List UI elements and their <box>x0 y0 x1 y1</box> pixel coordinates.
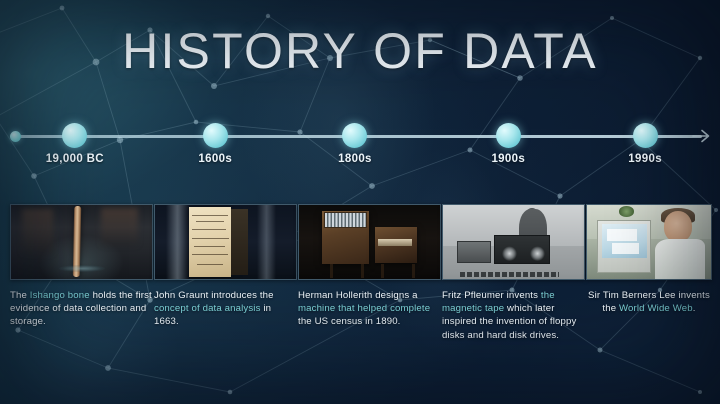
timeline-label-3: 1900s <box>448 153 568 165</box>
page-title: HISTORY OF DATA <box>0 26 720 76</box>
card-fritz-pfleumer[interactable]: Fritz Pfleumer invents the magnetic tape… <box>442 204 585 342</box>
caption-highlight: machine that helped complete <box>298 303 430 314</box>
timeline-node-1[interactable] <box>203 123 228 148</box>
timeline-node-3[interactable] <box>496 123 521 148</box>
caption-text: Herman Hollerith designs a <box>298 290 418 301</box>
card-ishango-bone[interactable]: The Ishango bone holds the first evidenc… <box>10 204 153 329</box>
timeline-start-dot <box>10 131 21 142</box>
card-tim-berners-lee[interactable]: Sir Tim Berners Lee invents the World Wi… <box>586 204 712 315</box>
card-caption: Sir Tim Berners Lee invents the World Wi… <box>586 289 712 315</box>
card-caption: The Ishango bone holds the first evidenc… <box>10 289 153 329</box>
card-thumbnail-tim-berners-lee <box>586 204 712 280</box>
caption-text: Fritz Pfleumer invents <box>442 290 541 301</box>
timeline: 19,000 BC1600s1800s1900s1990s <box>0 118 720 174</box>
caption-text: John Graunt introduces the <box>154 290 274 301</box>
card-caption: John Graunt introduces the concept of da… <box>154 289 297 329</box>
caption-text: The <box>10 290 30 301</box>
caption-highlight: Ishango bone <box>30 290 90 301</box>
arrow-right-icon <box>692 126 712 146</box>
slide-root: HISTORY OF DATA 19,000 BC1600s1800s1900s… <box>0 0 720 404</box>
card-thumbnail-john-graunt <box>154 204 297 280</box>
caption-text: . <box>693 303 696 314</box>
timeline-label-4: 1990s <box>585 153 705 165</box>
card-caption: Fritz Pfleumer invents the magnetic tape… <box>442 289 585 342</box>
timeline-node-4[interactable] <box>633 123 658 148</box>
timeline-node-2[interactable] <box>342 123 367 148</box>
milestone-cards: The Ishango bone holds the first evidenc… <box>0 204 720 374</box>
card-thumbnail-ishango-bone <box>10 204 153 280</box>
caption-highlight: concept of data analysis <box>154 303 261 314</box>
timeline-label-1: 1600s <box>155 153 275 165</box>
card-thumbnail-herman-hollerith <box>298 204 441 280</box>
caption-highlight: World Wide Web <box>619 303 693 314</box>
card-john-graunt[interactable]: John Graunt introduces the concept of da… <box>154 204 297 329</box>
card-herman-hollerith[interactable]: Herman Hollerith designs a machine that … <box>298 204 441 329</box>
timeline-node-0[interactable] <box>62 123 87 148</box>
timeline-label-0: 19,000 BC <box>15 153 135 165</box>
caption-text: the US census in 1890. <box>298 316 401 327</box>
timeline-label-2: 1800s <box>295 153 415 165</box>
card-thumbnail-fritz-pfleumer <box>442 204 585 280</box>
card-caption: Herman Hollerith designs a machine that … <box>298 289 441 329</box>
